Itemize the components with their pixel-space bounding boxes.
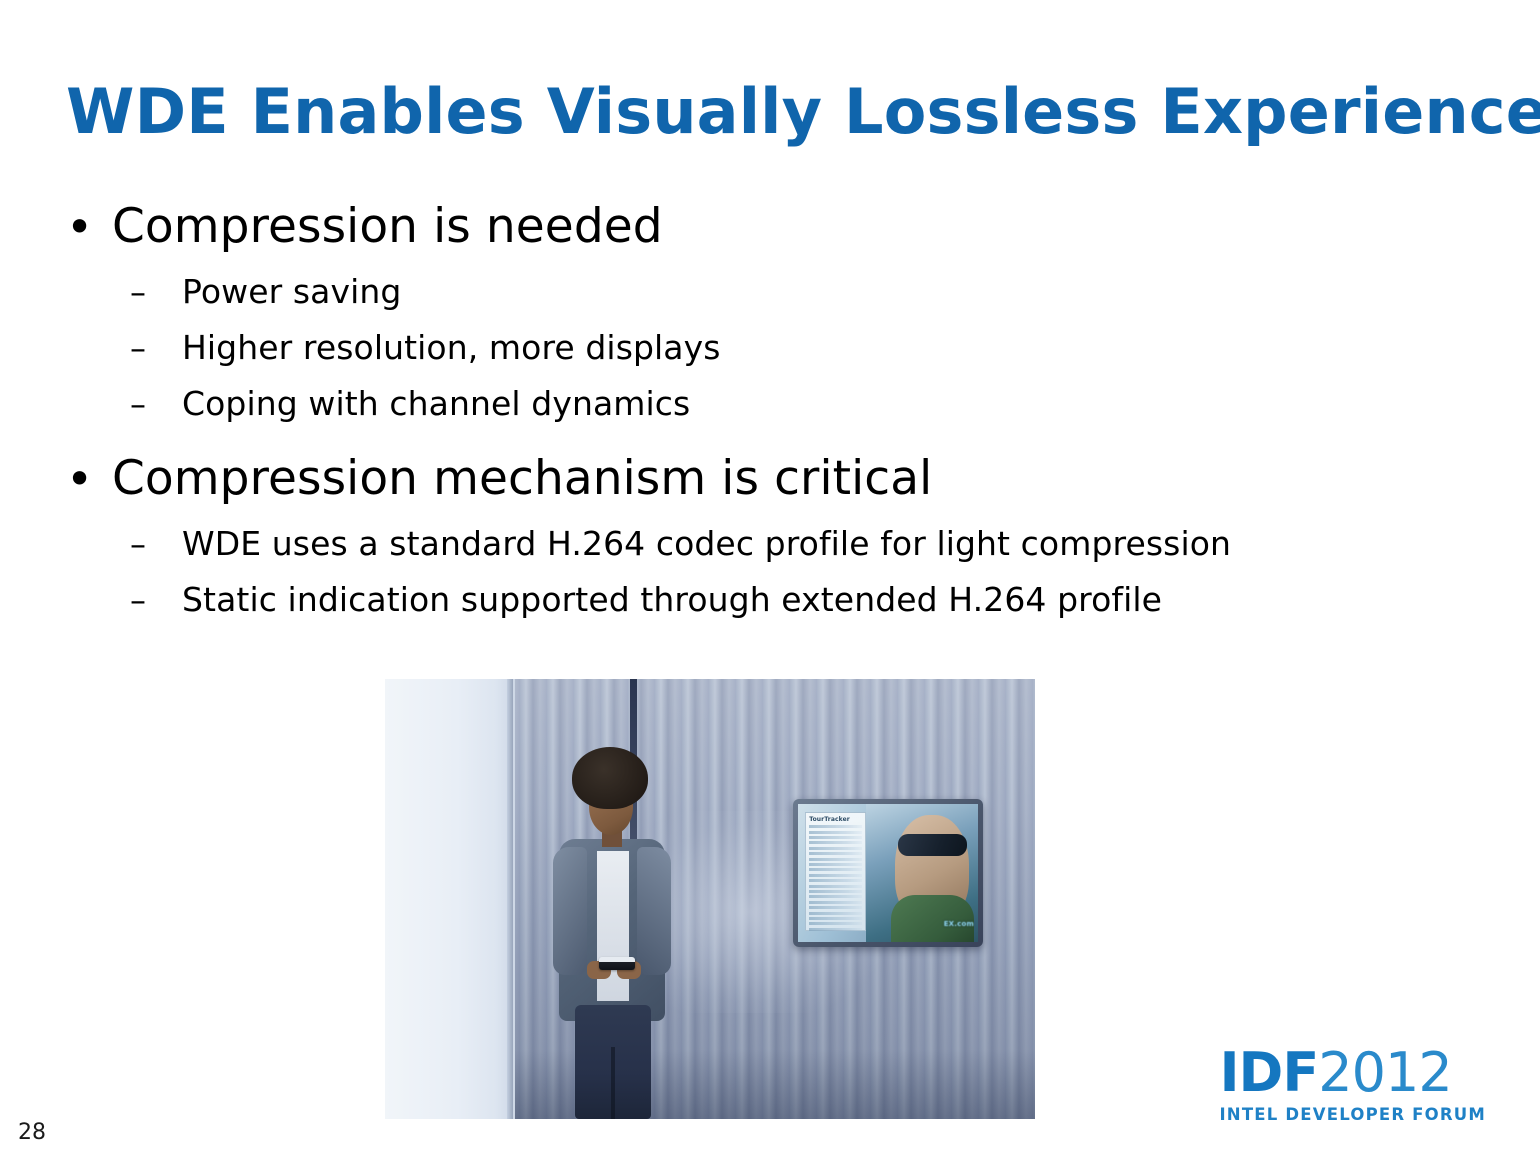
sunglasses-icon <box>898 834 967 856</box>
bullet-level2-row: – Power saving <box>0 270 1500 314</box>
signage-list-row <box>809 906 862 909</box>
signage-list-row <box>809 858 862 861</box>
bullet-level2-row: – Coping with channel dynamics <box>0 382 1500 426</box>
dash-icon: – <box>130 270 182 314</box>
slide-canvas: WDE Enables Visually Lossless Experience… <box>0 0 1540 1155</box>
idf-logo-wordmark: IDF2012 <box>1219 1046 1486 1100</box>
idf-logo-mark: IDF <box>1219 1041 1318 1104</box>
signage-list-row <box>809 868 862 871</box>
signage-list-title: TourTracker <box>809 816 862 823</box>
ad-shirt <box>891 895 974 942</box>
idf-logo-subtitle: INTEL DEVELOPER FORUM <box>1219 1105 1486 1125</box>
bullet-level2-row: – Higher resolution, more displays <box>0 326 1500 370</box>
smartphone-icon <box>599 957 635 970</box>
display-screen: EX.com TourTracker <box>798 804 978 942</box>
leg-separation <box>611 1047 615 1119</box>
signage-list-row <box>809 847 862 850</box>
white-wall <box>385 679 515 1119</box>
signage-list-panel: TourTracker <box>805 812 866 931</box>
bullet-level1-text: Compression mechanism is critical <box>112 448 932 510</box>
bullet-level1-row: • Compression mechanism is critical <box>0 448 1500 510</box>
bullet-level1-row: • Compression is needed <box>0 196 1500 258</box>
signage-list-row <box>809 890 862 893</box>
bullet-level2-text: Coping with channel dynamics <box>182 382 690 426</box>
group-spacer <box>0 426 1500 448</box>
signage-list-row <box>809 852 862 855</box>
signage-list-row <box>809 841 862 844</box>
signage-list-row <box>809 874 862 877</box>
bullet-dot-icon: • <box>66 448 112 510</box>
signage-list-row <box>809 825 862 828</box>
idf-logo: IDF2012 INTEL DEVELOPER FORUM <box>1219 1046 1486 1125</box>
dash-icon: – <box>130 326 182 370</box>
wall-edge <box>507 679 513 1119</box>
signage-list-row <box>809 836 862 839</box>
signage-list-row <box>809 901 862 904</box>
hair <box>572 747 648 809</box>
signage-list-row <box>809 922 862 925</box>
bullet-level2-row: – WDE uses a standard H.264 codec profil… <box>0 522 1500 566</box>
page-title: WDE Enables Visually Lossless Experience <box>66 74 1486 150</box>
signage-list-row <box>809 863 862 866</box>
signage-list-row <box>809 928 862 931</box>
jacket-sleeve-right <box>637 847 671 975</box>
signage-list-row <box>809 912 862 915</box>
bullet-level1-text: Compression is needed <box>112 196 663 258</box>
bullet-level2-row: – Static indication supported through ex… <box>0 578 1500 622</box>
idf-logo-year: 2012 <box>1318 1041 1451 1104</box>
dash-icon: – <box>130 382 182 426</box>
bullet-level2-text: WDE uses a standard H.264 codec profile … <box>182 522 1231 566</box>
bullet-content: • Compression is needed – Power saving –… <box>0 196 1500 622</box>
person-with-phone <box>545 747 705 1119</box>
dash-icon: – <box>130 578 182 622</box>
jacket-sleeve-left <box>553 847 587 975</box>
ad-photo: EX.com <box>866 804 978 942</box>
wall-mounted-display: EX.com TourTracker <box>793 799 983 947</box>
signage-list-row <box>809 917 862 920</box>
ad-brand-label: EX.com <box>944 920 974 928</box>
signage-list-row <box>809 895 862 898</box>
page-number: 28 <box>18 1120 46 1146</box>
bullet-dot-icon: • <box>66 196 112 258</box>
signage-list-row <box>809 885 862 888</box>
bullet-level2-text: Static indication supported through exte… <box>182 578 1162 622</box>
bullet-level2-text: Higher resolution, more displays <box>182 326 721 370</box>
dash-icon: – <box>130 522 182 566</box>
signage-list-row <box>809 879 862 882</box>
signage-list-row <box>809 831 862 834</box>
bullet-level2-text: Power saving <box>182 270 401 314</box>
slide-photo: EX.com TourTracker <box>385 679 1035 1119</box>
